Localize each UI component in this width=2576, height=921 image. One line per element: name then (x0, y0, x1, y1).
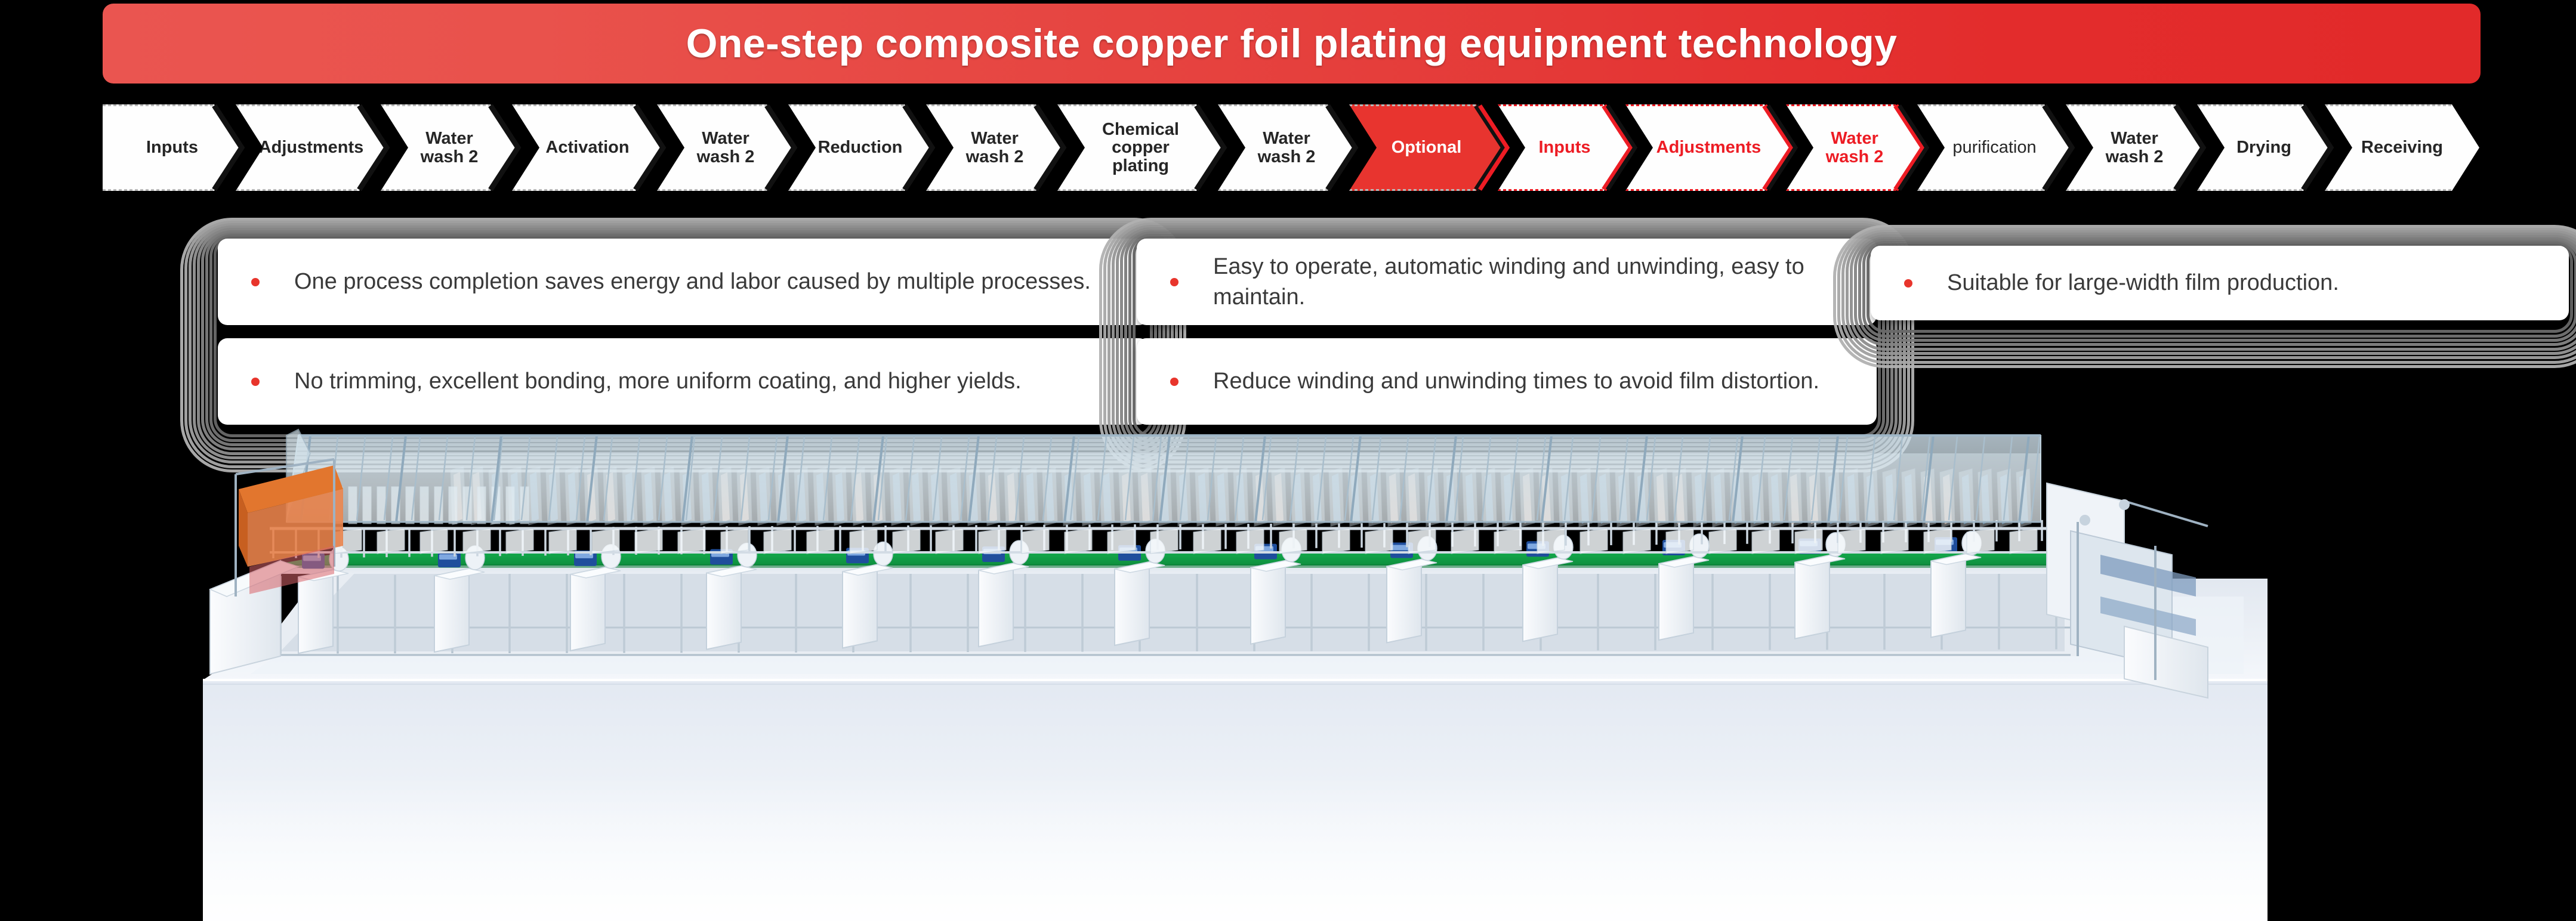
feature-card[interactable]: One process completion saves energy and … (218, 239, 1149, 325)
bullet-icon (1170, 378, 1179, 386)
bullet-icon (251, 378, 260, 386)
bullet-icon (1170, 278, 1179, 286)
chevron-bottom-border (2197, 189, 2331, 191)
feature-card-text: One process completion saves energy and … (294, 267, 1112, 296)
process-step-optional[interactable]: Optional (1349, 104, 1504, 191)
chevron-top-border (1786, 104, 1923, 106)
chevron-top-border (236, 104, 387, 106)
feature-card-text: Suitable for large-width film production… (1947, 268, 2361, 298)
process-step-reduction[interactable]: Reduction (788, 104, 932, 191)
chevron-top-border (1057, 104, 1224, 106)
chevron-bottom-border (788, 189, 932, 191)
chevron-top-border (381, 104, 518, 106)
process-step-water-wash-2[interactable]: Water wash 2 (1218, 104, 1355, 191)
chevron-bottom-border (1917, 189, 2072, 191)
process-step-label: Optional (1388, 138, 1466, 156)
process-step-purification[interactable]: purification (1917, 104, 2072, 191)
feature-card-group-3: Suitable for large-width film production… (1871, 246, 2569, 392)
feature-card[interactable]: Easy to operate, automatic winding and u… (1137, 239, 1877, 325)
chevron-bottom-border (2066, 189, 2203, 191)
process-step-label: Drying (2233, 138, 2295, 156)
process-step-water-wash-2[interactable]: Water wash 2 (2066, 104, 2203, 191)
chevron-top-border (657, 104, 794, 106)
process-step-water-wash-2[interactable]: Water wash 2 (926, 104, 1063, 191)
process-step-water-wash-2[interactable]: Water wash 2 (657, 104, 794, 191)
process-step-label: Inputs (1535, 138, 1594, 156)
process-step-activation[interactable]: Activation (512, 104, 663, 191)
feature-card[interactable]: No trimming, excellent bonding, more uni… (218, 338, 1149, 425)
process-step-inputs[interactable]: Inputs (1498, 104, 1631, 191)
chevron-bottom-border (1498, 189, 1631, 191)
chevron-top-border (512, 104, 663, 106)
process-step-chemical-copper-plating[interactable]: Chemical copper plating (1057, 104, 1224, 191)
chevron-top-border (926, 104, 1063, 106)
chevron-top-border (788, 104, 932, 106)
chevron-bottom-border (2325, 189, 2479, 191)
chevron-top-border (103, 104, 242, 106)
process-step-label: Water wash 2 (1254, 129, 1319, 165)
chevron-bottom-border (1625, 189, 1792, 191)
process-step-adjustments[interactable]: Adjustments (236, 104, 387, 191)
chevron-top-border (1498, 104, 1631, 106)
process-step-water-wash-2[interactable]: Water wash 2 (381, 104, 518, 191)
equipment-3d-render (0, 418, 2576, 921)
process-step-label: purification (1949, 138, 2040, 156)
process-step-label: Adjustments (255, 138, 368, 156)
chevron-top-border (1218, 104, 1355, 106)
chevron-top-border (2197, 104, 2331, 106)
process-step-receiving[interactable]: Receiving (2325, 104, 2479, 191)
feature-card[interactable]: Suitable for large-width film production… (1871, 246, 2569, 320)
slide-title-banner: One-step composite copper foil plating e… (103, 4, 2481, 84)
process-step-label: Water wash 2 (2102, 129, 2167, 165)
process-step-label: Water wash 2 (1822, 129, 1887, 165)
process-step-drying[interactable]: Drying (2197, 104, 2331, 191)
feature-card-text: Reduce winding and unwinding times to av… (1213, 366, 1841, 396)
chevron-bottom-border (1218, 189, 1355, 191)
process-step-label: Water wash 2 (693, 129, 758, 165)
chevron-top-border (2325, 104, 2479, 106)
chevron-bottom-border (381, 189, 518, 191)
chevron-bottom-border (657, 189, 794, 191)
process-step-water-wash-2[interactable]: Water wash 2 (1786, 104, 1923, 191)
process-step-adjustments[interactable]: Adjustments (1625, 104, 1792, 191)
process-step-label: Chemical copper plating (1099, 120, 1183, 174)
process-step-label: Reduction (815, 138, 906, 156)
feature-card-text: No trimming, excellent bonding, more uni… (294, 366, 1043, 396)
page-title: One-step composite copper foil plating e… (686, 20, 1898, 67)
process-flow-bar: InputsAdjustmentsWater wash 2ActivationW… (103, 104, 2481, 191)
chevron-bottom-border (926, 189, 1063, 191)
process-step-label: Receiving (2358, 138, 2447, 156)
chevron-bottom-border (236, 189, 387, 191)
feature-card[interactable]: Reduce winding and unwinding times to av… (1137, 338, 1877, 425)
process-step-label: Adjustments (1653, 138, 1765, 156)
bullet-icon (1904, 279, 1912, 288)
process-step-label: Inputs (143, 138, 202, 156)
chevron-bottom-border (1349, 189, 1504, 191)
chevron-top-border (1349, 104, 1504, 106)
slide-canvas: One-step composite copper foil plating e… (0, 0, 2576, 921)
process-step-label: Activation (542, 138, 633, 156)
chevron-bottom-border (512, 189, 663, 191)
chevron-bottom-border (1057, 189, 1224, 191)
feature-card-text: Easy to operate, automatic winding and u… (1213, 252, 1877, 311)
process-step-label: Water wash 2 (417, 129, 482, 165)
chevron-top-border (2066, 104, 2203, 106)
chevron-top-border (1625, 104, 1792, 106)
chevron-bottom-border (103, 189, 242, 191)
process-step-label: Water wash 2 (962, 129, 1028, 165)
chevron-bottom-border (1786, 189, 1923, 191)
chevron-top-border (1917, 104, 2072, 106)
bullet-icon (251, 278, 260, 286)
process-step-inputs[interactable]: Inputs (103, 104, 242, 191)
